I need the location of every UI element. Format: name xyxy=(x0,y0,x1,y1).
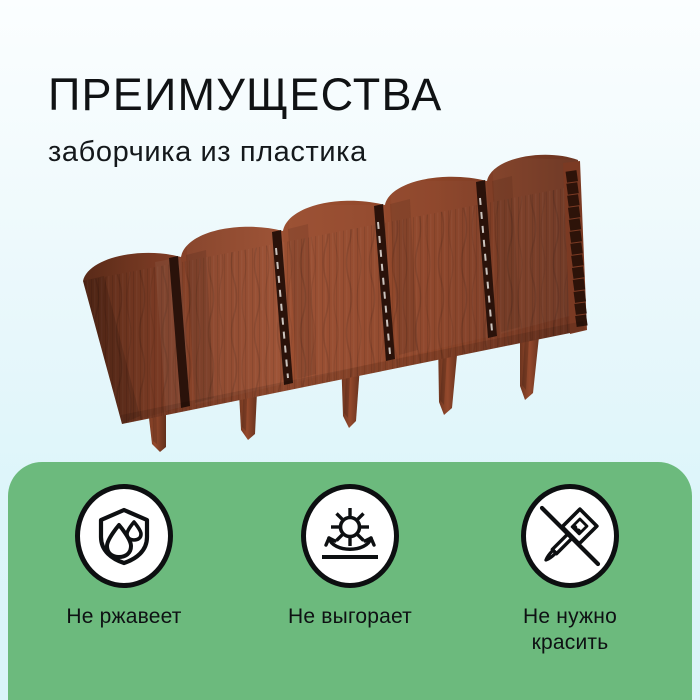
fence-illustration xyxy=(0,0,700,470)
benefit-item-no-paint: Не нужно красить xyxy=(470,484,670,655)
benefits-panel: Не ржавеет xyxy=(8,462,692,700)
promo-banner: ПРЕИМУЩЕСТВА заборчика из пластика xyxy=(0,0,700,700)
sun-uv-deflect-icon xyxy=(319,507,381,565)
benefit-item-no-fade: Не выгорает xyxy=(250,484,450,630)
paint-brush-prohibited-icon xyxy=(534,500,606,572)
shield-water-drop-icon xyxy=(94,505,154,567)
benefit-label: Не ржавеет xyxy=(24,604,224,630)
benefit-item-no-rust: Не ржавеет xyxy=(24,484,224,630)
benefit-label: Не нужно красить xyxy=(470,604,670,655)
benefit-icon-badge xyxy=(75,484,173,588)
fence-board xyxy=(60,150,620,450)
benefit-label: Не выгорает xyxy=(250,604,450,630)
benefit-icon-badge xyxy=(301,484,399,588)
benefit-icon-badge xyxy=(521,484,619,588)
fence-panel-shading xyxy=(83,157,585,424)
product-image-fence xyxy=(0,0,700,470)
